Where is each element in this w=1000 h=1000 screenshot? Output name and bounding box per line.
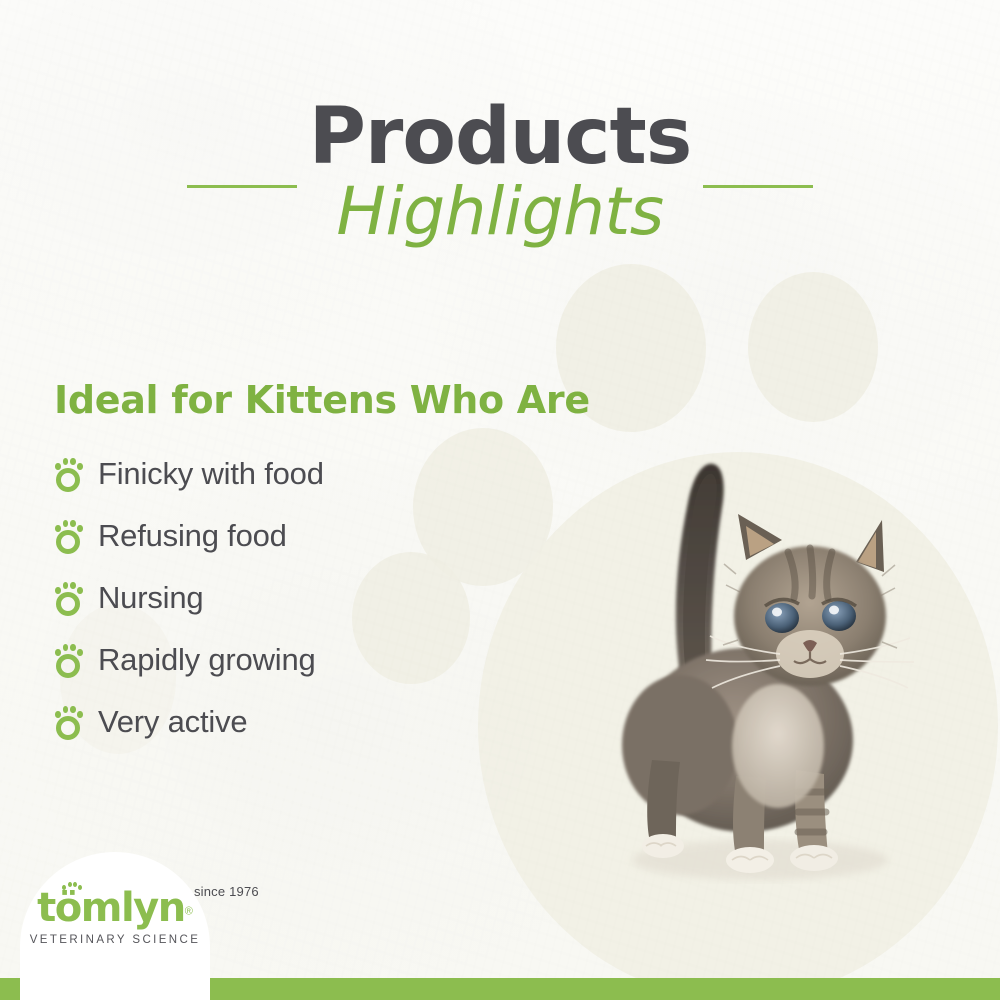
logo-inner: tömlyn® since 1976 VETERINARY SCIENCE xyxy=(20,888,210,946)
list-item: Nursing xyxy=(54,580,590,616)
logo-since-text: since 1976 xyxy=(194,884,259,899)
brand-logo[interactable]: tömlyn® since 1976 VETERINARY SCIENCE xyxy=(20,852,210,1000)
registered-trademark-icon: ® xyxy=(185,906,193,918)
list-item: Very active xyxy=(54,704,590,740)
logo-tagline: VETERINARY SCIENCE xyxy=(20,934,210,946)
kitten-photo xyxy=(560,440,960,910)
poster-canvas: Products Highlights Ideal for Kittens Wh… xyxy=(0,0,1000,1000)
section-heading: Ideal for Kittens Who Are xyxy=(54,378,590,422)
page-subtitle: Highlights xyxy=(309,177,692,246)
list-item-label: Nursing xyxy=(98,580,203,616)
list-item-label: Finicky with food xyxy=(98,456,324,492)
paw-icon xyxy=(54,704,84,740)
logo-wordmark: tömlyn® since 1976 xyxy=(37,888,193,928)
paw-icon xyxy=(54,456,84,492)
paw-icon xyxy=(54,580,84,616)
poster-header: Products Highlights xyxy=(0,100,1000,246)
page-title: Products xyxy=(309,100,692,175)
paw-dots-icon xyxy=(62,882,82,890)
list-item-label: Rapidly growing xyxy=(98,642,316,678)
benefits-list: Finicky with food Refusing food Nursing xyxy=(54,456,590,740)
decorative-blob-toe-2 xyxy=(748,272,878,422)
highlights-section: Ideal for Kittens Who Are Finicky with f… xyxy=(54,378,590,766)
list-item-label: Refusing food xyxy=(98,518,287,554)
paw-icon xyxy=(54,642,84,678)
paw-icon xyxy=(54,518,84,554)
list-item: Refusing food xyxy=(54,518,590,554)
list-item: Rapidly growing xyxy=(54,642,590,678)
title-group: Products Highlights xyxy=(309,100,692,246)
logo-brand-text: tömlyn xyxy=(37,885,185,931)
title-rule-left xyxy=(187,185,297,188)
list-item-label: Very active xyxy=(98,704,247,740)
title-rule-right xyxy=(703,185,813,188)
list-item: Finicky with food xyxy=(54,456,590,492)
